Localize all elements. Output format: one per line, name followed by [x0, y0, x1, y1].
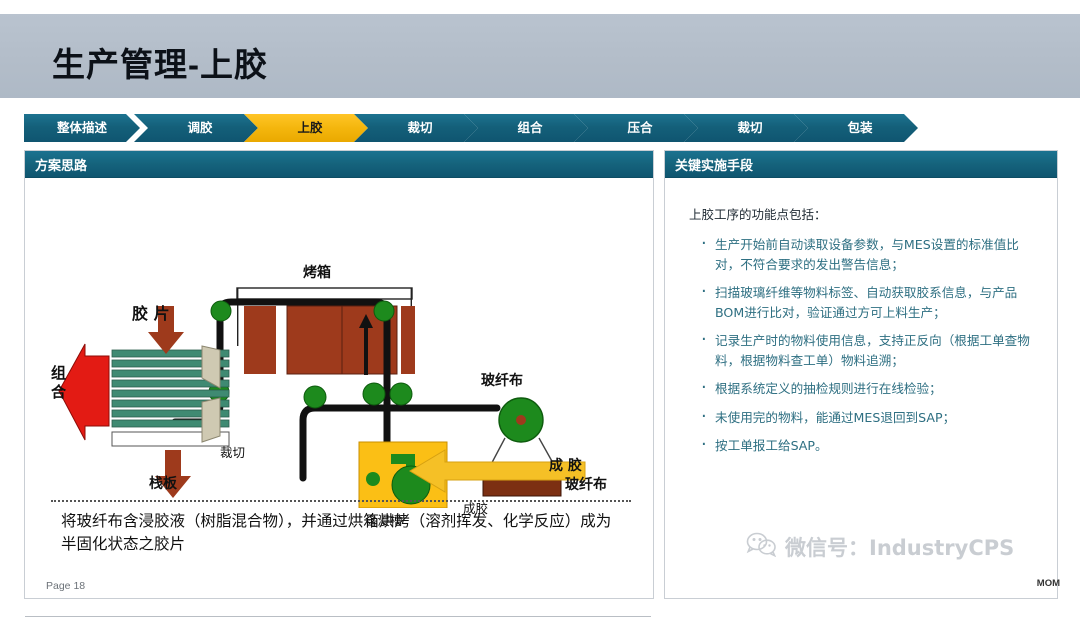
process-step-2[interactable]: 调胶	[134, 114, 258, 142]
process-step-label: 整体描述	[57, 122, 107, 135]
diagram-label-cut-left: 裁切	[220, 442, 245, 461]
wechat-icon	[746, 532, 776, 562]
key-measures-list: 生产开始前自动读取设备参数，与MES设置的标准值比对，不符合要求的发出警告信息；…	[679, 235, 1043, 456]
page-title: 生产管理-上胶	[52, 38, 268, 86]
diagram-label-glass-cloth-top: 玻纤布	[481, 370, 523, 390]
process-step-8[interactable]: 包装	[794, 114, 918, 142]
process-step-7[interactable]: 裁切	[684, 114, 808, 142]
key-measure-item: 生产开始前自动读取设备参数，与MES设置的标准值比对，不符合要求的发出警告信息；	[701, 235, 1037, 274]
process-step-label: 调胶	[187, 122, 212, 135]
diagram-label-glue-bold: 成 胶	[549, 455, 582, 475]
diagram-divider	[51, 500, 631, 504]
panel-solution-approach: 方案思路	[24, 150, 654, 599]
key-measure-item: 未使用完的物料，能通过MES退回到SAP；	[701, 408, 1037, 428]
page-number: Page 18	[46, 580, 85, 592]
process-flow-bar: 整体描述调胶上胶裁切组合压合裁切包装	[24, 114, 908, 142]
process-step-5[interactable]: 组合	[464, 114, 588, 142]
diagram-label-glass-cloth-bottom: 玻纤布	[565, 474, 607, 494]
process-step-6[interactable]: 压合	[574, 114, 698, 142]
watermark-text: 微信号：IndustryCPS	[785, 532, 1014, 562]
process-step-label: 上胶	[297, 122, 322, 135]
process-step-4[interactable]: 裁切	[354, 114, 478, 142]
key-measure-item: 扫描玻璃纤维等物料标签、自动获取胶系信息，与产品BOM进行比对，验证通过方可上料…	[701, 283, 1037, 322]
process-step-label: 裁切	[737, 122, 762, 135]
key-measure-item: 记录生产时的物料使用信息，支持正反向（根据工单查物料，根据物料查工单）物料追溯；	[701, 331, 1037, 370]
diagram-caption: 将玻纤布含浸胶液（树脂混合物），并通过烘箱烘烤（溶剂挥发、化学反应）成为半固化状…	[61, 510, 621, 557]
diagram-label-assemble: 组 合	[51, 364, 73, 402]
bullets-intro: 上胶工序的功能点包括：	[689, 204, 1043, 223]
diagram-label-pallet: 栈板	[149, 473, 177, 493]
corner-label: MOM	[1037, 578, 1060, 589]
panel-left-title: 方案思路	[25, 151, 653, 178]
watermark: 微信号：IndustryCPS	[746, 532, 1014, 562]
process-step-1[interactable]: 整体描述	[24, 114, 140, 142]
key-measure-item: 按工单报工给SAP。	[701, 436, 1037, 456]
process-diagram: 烤箱 胶 片 组 合 裁切 栈板 玻纤布 玻纤布 含浸槽 成 胶 成胶 将玻纤布…	[25, 178, 651, 598]
key-measure-item: 根据系统定义的抽检规则进行在线检验；	[701, 379, 1037, 399]
process-step-label: 组合	[517, 122, 542, 135]
process-step-label: 裁切	[407, 122, 432, 135]
diagram-label-film: 胶 片	[132, 300, 170, 324]
panel-right-title: 关键实施手段	[665, 151, 1057, 178]
process-step-label: 压合	[627, 122, 652, 135]
slide-root: 生产管理-上胶 整体描述调胶上胶裁切组合压合裁切包装 方案思路	[0, 0, 1080, 607]
panel-left-body: 烤箱 胶 片 组 合 裁切 栈板 玻纤布 玻纤布 含浸槽 成 胶 成胶 将玻纤布…	[25, 178, 653, 598]
process-step-3[interactable]: 上胶	[244, 114, 368, 142]
process-step-label: 包装	[847, 122, 872, 135]
diagram-label-oven: 烤箱	[303, 262, 331, 282]
